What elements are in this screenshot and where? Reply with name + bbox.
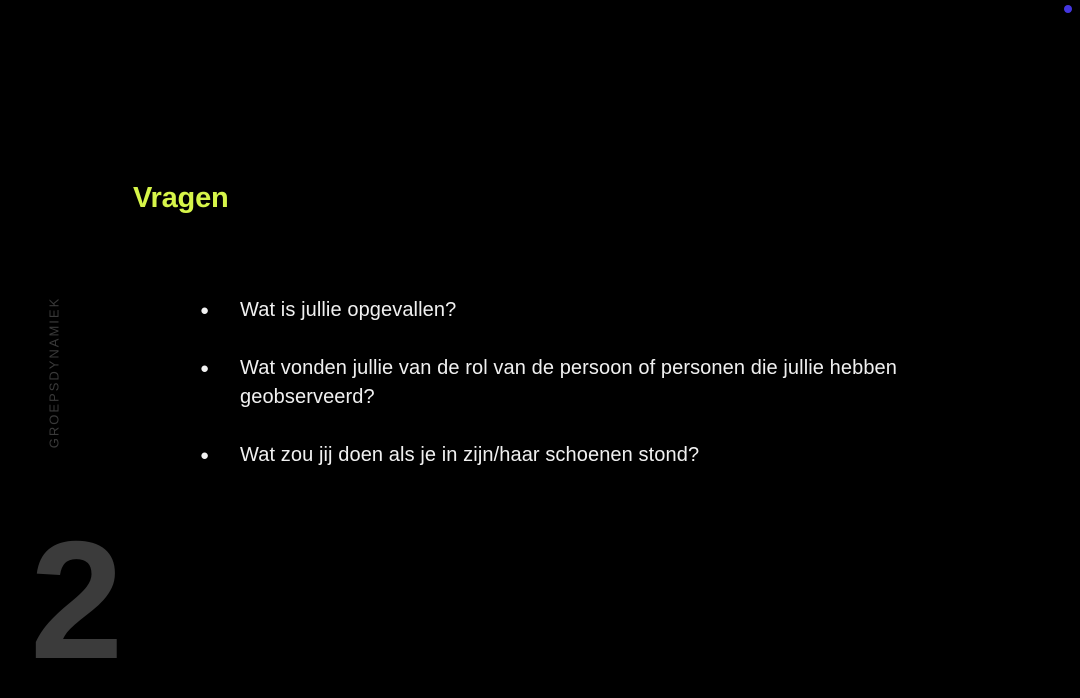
vertical-section-label: GROEPSDYNAMIEK [48,283,61,463]
presentation-slide: GROEPSDYNAMIEK 2 Vragen ● Wat is jullie … [0,0,1080,698]
list-item: ● Wat vonden jullie van de rol van de pe… [196,354,956,412]
chapter-number: 2 [30,516,121,684]
list-item-label: Wat vonden jullie van de rol van de pers… [240,354,956,412]
bullet-point-icon: ● [196,441,240,470]
list-item-label: Wat is jullie opgevallen? [240,296,956,325]
page-title: Vragen [133,183,229,215]
bullet-point-icon: ● [196,354,240,383]
list-item-label: Wat zou jij doen als je in zijn/haar sch… [240,441,956,470]
question-list: ● Wat is jullie opgevallen? ● Wat vonden… [196,296,956,470]
list-item: ● Wat zou jij doen als je in zijn/haar s… [196,441,956,470]
list-item: ● Wat is jullie opgevallen? [196,296,956,325]
accent-dot-icon [1064,5,1072,13]
bullet-point-icon: ● [196,296,240,325]
